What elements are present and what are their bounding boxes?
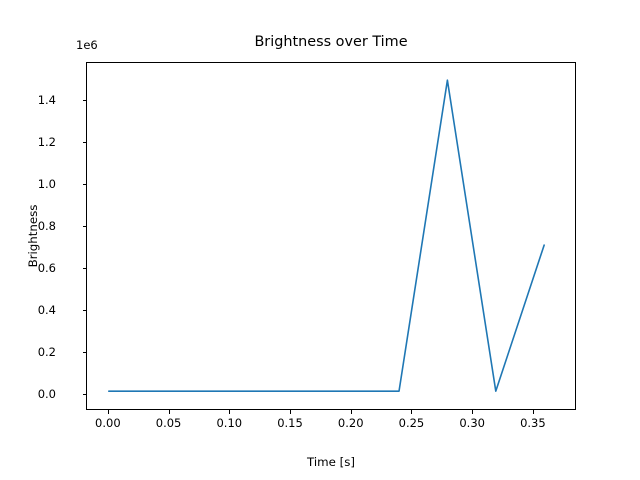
y-axis-label: Brightness: [26, 62, 46, 410]
y-tick-mark: [83, 310, 87, 311]
x-axis-label: Time [s]: [86, 455, 576, 469]
x-tick-label: 0.15: [277, 416, 303, 430]
x-tick-label: 0.20: [338, 416, 364, 430]
x-tick-mark: [290, 410, 291, 414]
y-tick-mark: [83, 352, 87, 353]
x-tick-mark: [411, 410, 412, 414]
x-tick-mark: [533, 410, 534, 414]
x-tick-mark: [472, 410, 473, 414]
y-axis-offset-text: 1e6: [76, 38, 98, 52]
x-tick-mark: [229, 410, 230, 414]
y-tick-mark: [83, 100, 87, 101]
y-tick-mark: [83, 268, 87, 269]
y-tick-mark: [83, 226, 87, 227]
x-tick-label: 0.00: [95, 416, 121, 430]
x-tick-label: 0.25: [399, 416, 425, 430]
x-tick-mark: [108, 410, 109, 414]
matplotlib-figure: Brightness over Time 1e6 0.000.050.100.1…: [0, 0, 640, 480]
plot-axes: [86, 62, 576, 410]
x-tick-label: 0.05: [156, 416, 182, 430]
plot-line-svg: [87, 63, 575, 409]
data-series-brightness: [109, 80, 544, 391]
x-tick-mark: [169, 410, 170, 414]
x-tick-label: 0.10: [216, 416, 242, 430]
y-tick-mark: [83, 394, 87, 395]
x-tick-label: 0.35: [520, 416, 546, 430]
y-tick-mark: [83, 184, 87, 185]
y-tick-mark: [83, 142, 87, 143]
x-tick-label: 0.30: [459, 416, 485, 430]
chart-title: Brightness over Time: [86, 33, 576, 51]
x-tick-mark: [351, 410, 352, 414]
